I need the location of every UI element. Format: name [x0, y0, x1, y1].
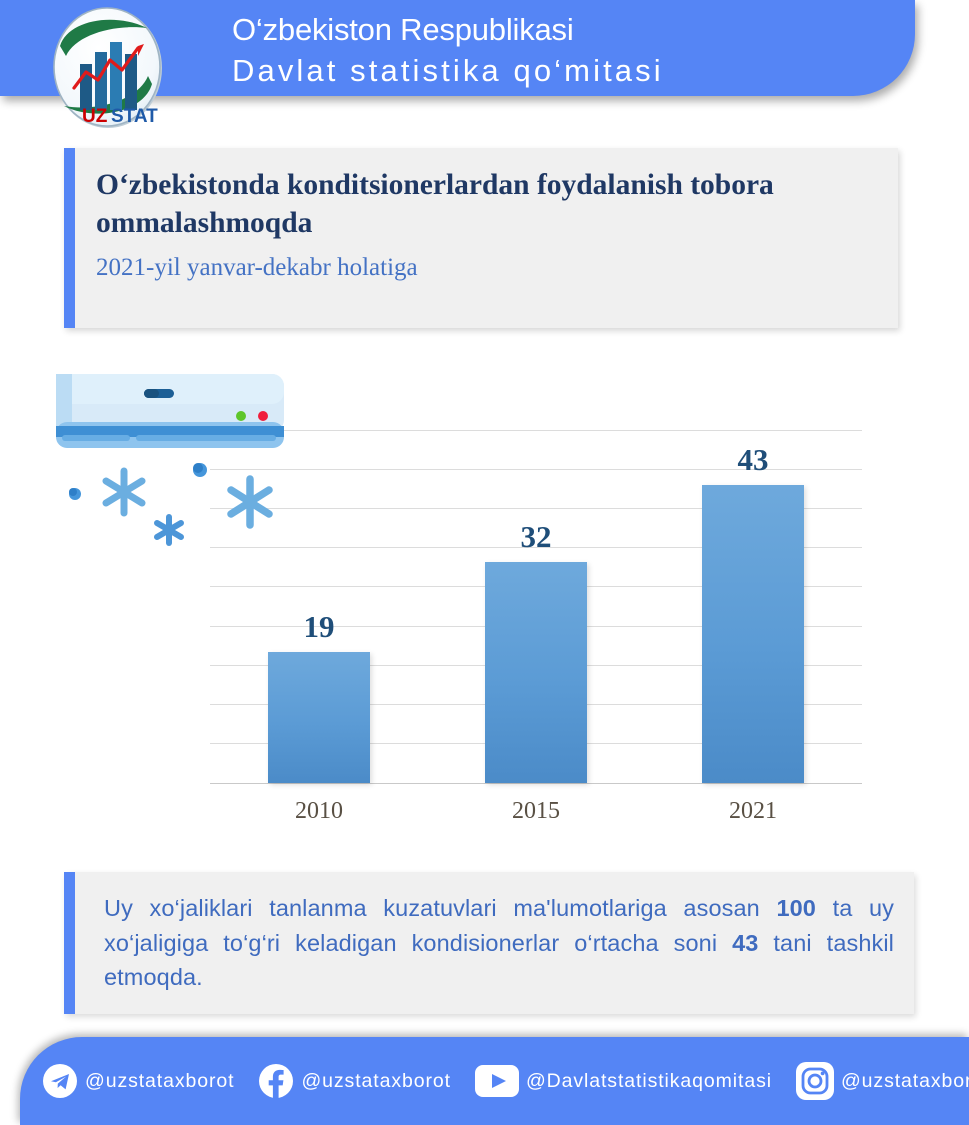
- chart-gridline: [210, 626, 862, 627]
- uzstat-logo-icon: UZ STAT: [52, 6, 164, 134]
- air-conditioner-illustration: [56, 372, 284, 454]
- chart-bar-value-label: 19: [259, 609, 379, 645]
- chart-gridline: [210, 547, 862, 548]
- title-accent-bar: [64, 148, 75, 328]
- social-link-facebook[interactable]: @uzstataxborot: [258, 1063, 450, 1099]
- summary-accent-bar: [64, 872, 75, 1014]
- summary-part-1: Uy xo‘jaliklari tanlanma kuzatuvlari ma'…: [104, 895, 776, 921]
- logo-text-uz: UZ: [82, 106, 108, 127]
- chart-category-label: 2010: [249, 798, 389, 825]
- snow-dot-small-right: [192, 462, 208, 483]
- snow-dot-small-left: [68, 487, 82, 506]
- footer-bar: @uzstataxborot@uzstataxborot@Davlatstati…: [20, 1037, 969, 1125]
- chart-category-label: 2021: [683, 798, 823, 825]
- snowflake-large-right: [224, 474, 276, 535]
- uzstat-logo: UZ STAT: [52, 6, 164, 134]
- chart-gridline: [210, 469, 862, 470]
- social-links-row: @uzstataxborot@uzstataxborot@Davlatstati…: [20, 1037, 969, 1125]
- chart-gridline: [210, 743, 862, 744]
- air-conditioner-icon: [56, 372, 284, 454]
- page-subtitle: 2021-yil yanvar-dekabr holatiga: [96, 252, 856, 284]
- chart-gridline: [210, 508, 862, 509]
- chart-baseline: [210, 783, 862, 785]
- chart-gridline: [210, 704, 862, 705]
- header-titles: O‘zbekiston Respublikasi Davlat statisti…: [232, 9, 664, 91]
- summary-text: Uy xo‘jaliklari tanlanma kuzatuvlari ma'…: [104, 891, 894, 995]
- logo-text-stat: STAT: [111, 106, 158, 127]
- social-handle[interactable]: @Davlatstatistikaqomitasi: [526, 1070, 772, 1093]
- youtube-icon[interactable]: [475, 1065, 519, 1097]
- page-title: O‘zbekistonda konditsionerlardan foydala…: [96, 166, 856, 242]
- snowflake-icon: [100, 466, 148, 518]
- title-panel: O‘zbekistonda konditsionerlardan foydala…: [64, 148, 898, 328]
- header-title-line1: O‘zbekiston Respublikasi: [232, 9, 664, 50]
- summary-panel: Uy xo‘jaliklari tanlanma kuzatuvlari ma'…: [64, 872, 914, 1014]
- chart-bar-value-label: 43: [693, 442, 813, 478]
- chart-gridline: [210, 430, 862, 431]
- social-handle[interactable]: @uzstataxborot: [85, 1070, 234, 1093]
- chart-gridline: [210, 665, 862, 666]
- summary-bold-43: 43: [732, 930, 758, 956]
- telegram-icon[interactable]: [42, 1063, 78, 1099]
- chart-bar: [268, 652, 370, 783]
- chart-gridline: [210, 586, 862, 587]
- social-link-youtube[interactable]: @Davlatstatistikaqomitasi: [475, 1065, 772, 1097]
- summary-bold-100: 100: [776, 895, 816, 921]
- chart-category-label: 2015: [466, 798, 606, 825]
- snowflake-large-left: [100, 466, 148, 523]
- instagram-icon[interactable]: [796, 1062, 834, 1100]
- header-title-line2: Davlat statistika qo‘mitasi: [232, 50, 664, 91]
- snowflake-icon: [152, 512, 186, 548]
- chart-bar-value-label: 32: [476, 519, 596, 555]
- chart-bar: [702, 485, 804, 783]
- social-link-instagram[interactable]: @uzstataxborot: [796, 1062, 969, 1100]
- social-handle[interactable]: @uzstataxborot: [841, 1070, 969, 1093]
- social-link-telegram[interactable]: @uzstataxborot: [42, 1063, 234, 1099]
- chart-plot-area: 192010322015432021: [210, 430, 862, 784]
- snowflake-icon: [224, 474, 276, 530]
- chart-bar: [485, 562, 587, 783]
- facebook-icon[interactable]: [258, 1063, 294, 1099]
- social-handle[interactable]: @uzstataxborot: [301, 1070, 450, 1093]
- snowflake-small-mid: [152, 512, 186, 553]
